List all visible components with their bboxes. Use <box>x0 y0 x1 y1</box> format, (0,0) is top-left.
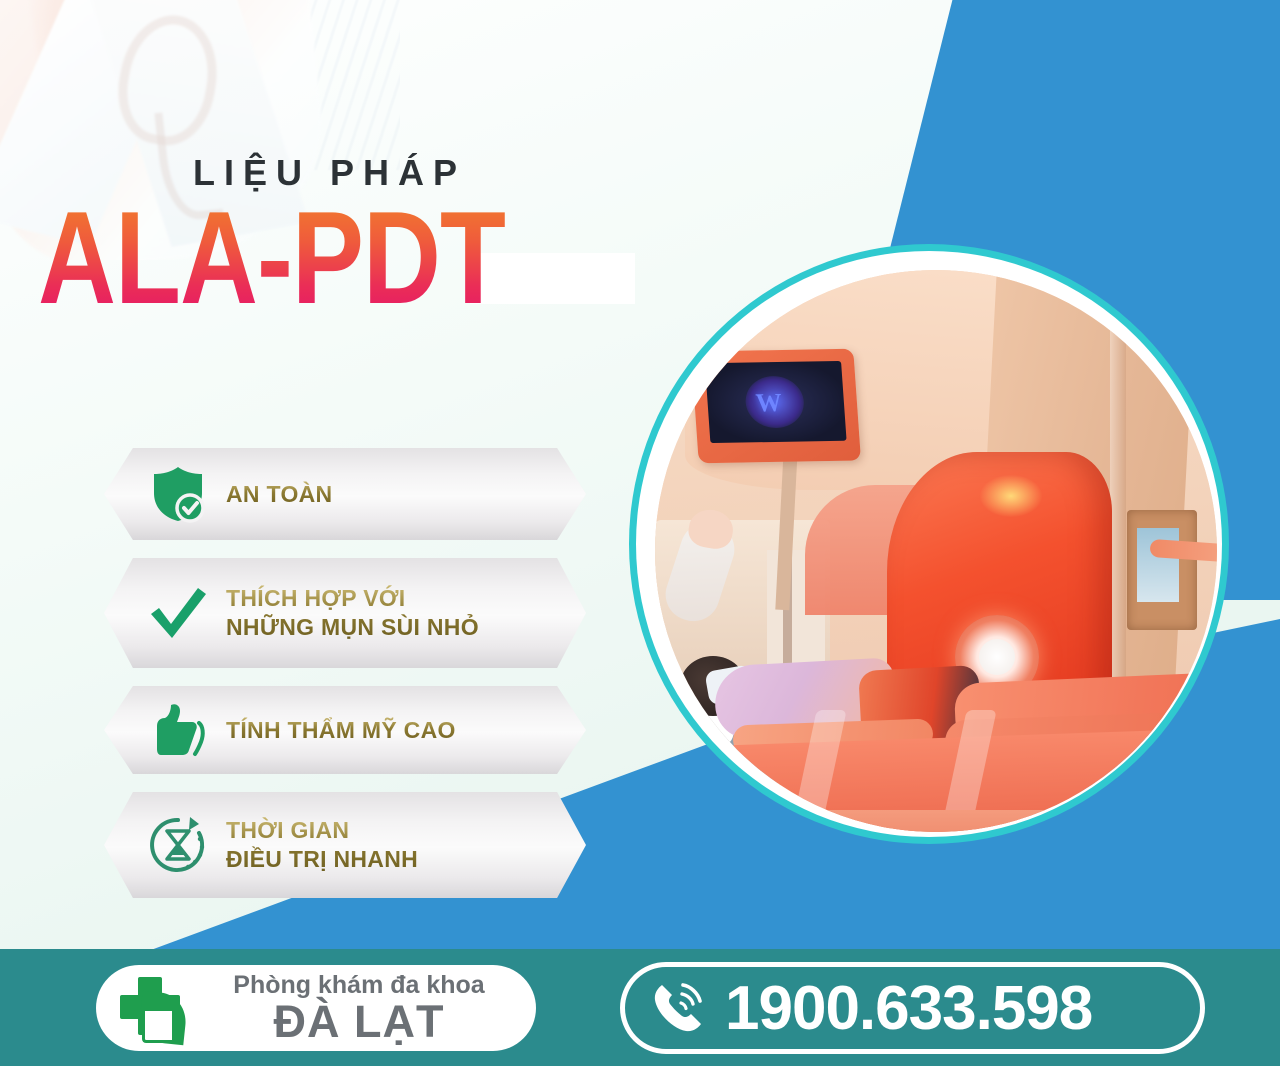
feature-badge-thoi-gian[interactable]: THỜI GIAN ĐIỀU TRỊ NHANH <box>104 792 586 898</box>
hourglass-clock-icon <box>130 815 226 875</box>
feature-label: TÍNH THẨM MỸ CAO <box>226 716 480 745</box>
machine-monitor: W <box>691 349 861 464</box>
photo-teal-ring: W <box>629 244 1229 844</box>
brand-text-group: Phòng khám đa khoa ĐÀ LẠT <box>210 972 536 1043</box>
phone-number: 1900.633.598 <box>725 973 1092 1044</box>
feature-badge-thich-hop[interactable]: THÍCH HỢP VỚI NHỮNG MỤN SÙI NHỎ <box>104 558 586 668</box>
feature-label: AN TOÀN <box>226 480 356 509</box>
brand-name: ĐÀ LẠT <box>210 999 508 1044</box>
poster-canvas: LIỆU PHÁP ALA-PDT <box>0 0 1280 1066</box>
pdt-machine-scene: W <box>655 270 1217 832</box>
red-panel-glow <box>980 475 1042 517</box>
phone-cta-pill[interactable]: 1900.633.598 <box>620 962 1205 1054</box>
phone-ringing-icon <box>645 975 711 1041</box>
page-title: ALA-PDT <box>38 192 505 324</box>
treatment-photo: W <box>655 270 1217 832</box>
photo-white-border: W <box>636 251 1222 837</box>
machine-tower-edge <box>1110 280 1126 720</box>
thumbs-up-icon <box>130 702 226 758</box>
feature-badge-list: AN TOÀN THÍCH HỢP VỚI NHỮNG MỤN SÙI NHỎ … <box>104 448 586 916</box>
feature-badge-an-toan[interactable]: AN TOÀN <box>104 448 586 540</box>
treatment-lamp-core <box>979 639 1015 675</box>
brand-pill[interactable]: Phòng khám đa khoa ĐÀ LẠT <box>96 965 536 1051</box>
check-mark-icon <box>130 584 226 642</box>
feature-label: THÍCH HỢP VỚI NHỮNG MỤN SÙI NHỎ <box>226 584 503 642</box>
leaf-stem <box>142 1011 172 1043</box>
treatment-bed-base-lower <box>695 810 1215 832</box>
feature-badge-tham-my[interactable]: TÍNH THẨM MỸ CAO <box>104 686 586 774</box>
monitor-screen: W <box>705 361 847 443</box>
shield-check-icon <box>130 465 226 523</box>
brand-subtitle: Phòng khám đa khoa <box>210 972 508 998</box>
medical-cross-leaf-icon <box>114 971 188 1045</box>
screen-logo-text: W <box>755 388 783 418</box>
footer-bar: Phòng khám đa khoa ĐÀ LẠT 1900.633.598 <box>0 949 1280 1066</box>
feature-label: THỜI GIAN ĐIỀU TRỊ NHANH <box>226 816 442 874</box>
